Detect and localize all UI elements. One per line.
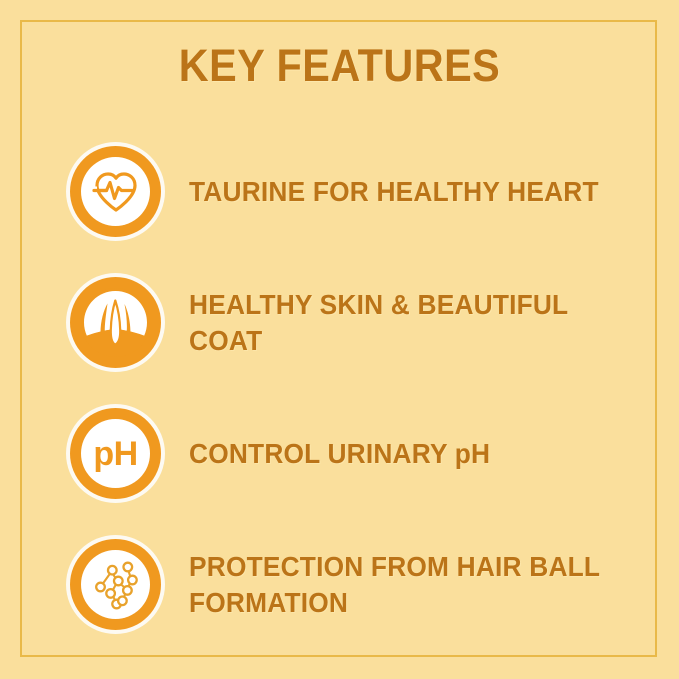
feature-icon-container <box>66 142 165 241</box>
list-item: pH CONTROL URINARY pH <box>0 388 679 519</box>
list-item-label: HEALTHY SKIN & BEAUTIFUL COAT <box>189 287 631 359</box>
hair-follicle-skin-icon <box>81 288 150 357</box>
ph-icon: pH <box>93 437 137 471</box>
list-item: HEALTHY SKIN & BEAUTIFUL COAT <box>0 257 679 388</box>
page-title: KEY FEATURES <box>27 40 652 92</box>
feature-icon-container: pH <box>66 404 165 503</box>
hairball-network-icon <box>90 559 142 611</box>
list-item-label: PROTECTION FROM HAIR BALL FORMATION <box>189 549 631 621</box>
list-item: PROTECTION FROM HAIR BALL FORMATION <box>0 519 679 650</box>
heart-pulse-icon <box>88 164 144 220</box>
feature-icon-container <box>66 535 165 634</box>
icon-field <box>81 157 150 226</box>
feature-icon-container <box>66 273 165 372</box>
list-item-label: TAURINE FOR HEALTHY HEART <box>189 174 599 210</box>
key-features-panel: KEY FEATURES TAURINE FOR HEALTHY HEART <box>0 0 679 679</box>
icon-field: pH <box>81 419 150 488</box>
icon-field <box>81 288 150 357</box>
icon-field <box>81 550 150 619</box>
list-item: TAURINE FOR HEALTHY HEART <box>0 126 679 257</box>
list-item-label: CONTROL URINARY pH <box>189 436 490 472</box>
feature-list: TAURINE FOR HEALTHY HEART <box>0 126 679 650</box>
